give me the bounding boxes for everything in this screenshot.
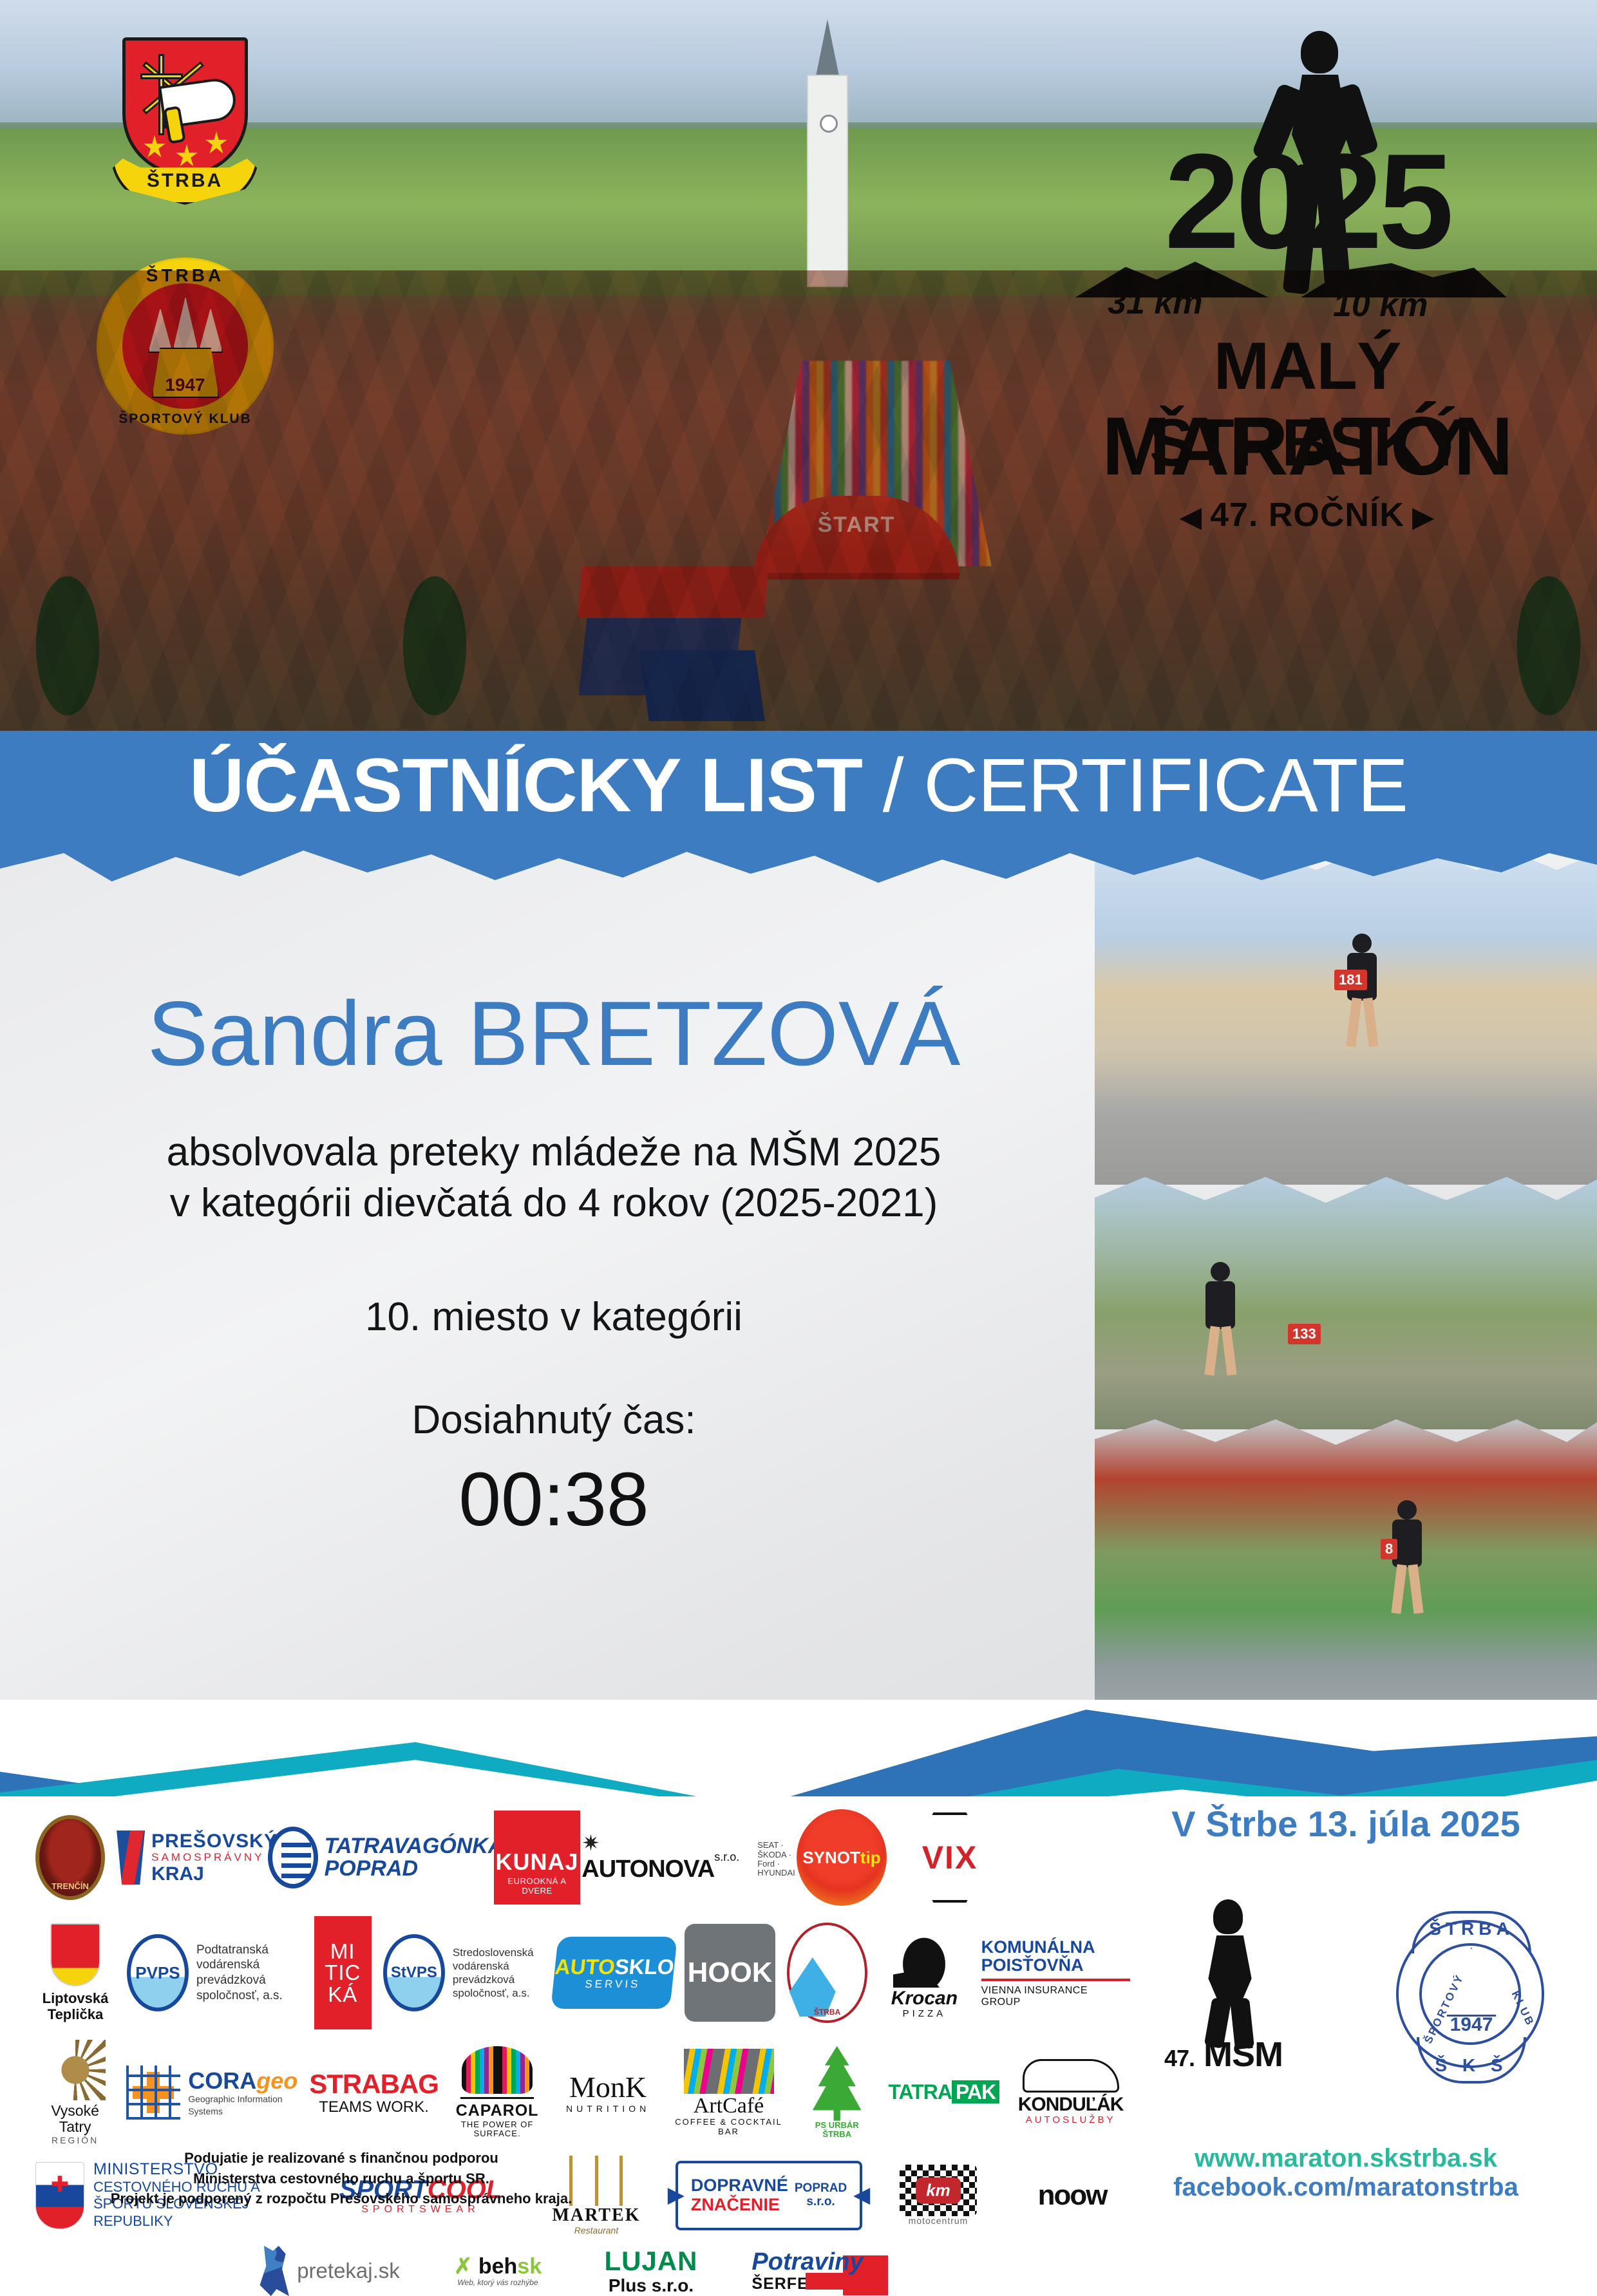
chevron-left-icon: ▶ bbox=[668, 2183, 685, 2207]
sponsor-miticka: MI TIC KÁ bbox=[314, 1916, 372, 2029]
race-bib-number: 181 bbox=[1334, 970, 1367, 990]
club-logo-bottom-text: ŠPORTOVÝ KLUB bbox=[97, 411, 274, 427]
marathon-event-logo: 2025 31 km 10 km MALÝ ŠTRBSKÝ MARATÓN 47… bbox=[1063, 26, 1552, 592]
tree-icon bbox=[809, 2046, 865, 2121]
sponsor-sublabel: EUROOKNÁ A DVERE bbox=[494, 1877, 580, 1896]
coat-of-arms-label: ŠTRBA bbox=[113, 170, 256, 192]
sponsor-hook: HOOK bbox=[685, 1924, 775, 2022]
title-separator: / bbox=[862, 743, 923, 828]
photo-finish-female-runner: 181 bbox=[1095, 850, 1597, 1185]
sponsor-label: CORA bbox=[188, 2067, 256, 2094]
sponsor-sublabel: THE POWER OF SURFACE. bbox=[450, 2120, 544, 2139]
sponsor-accent: PAK bbox=[952, 2080, 999, 2103]
sponsor-caparol: CAPAROL THE POWER OF SURFACE. bbox=[450, 2046, 544, 2138]
stamp-top-arc: ŠTRBA bbox=[1412, 1911, 1531, 1953]
sponsor-accent: SKLO bbox=[614, 1955, 676, 1979]
sponsor-corageo: CORAgeo Geographic Information Systems bbox=[126, 2065, 298, 2120]
sponsor-artcafe: ArtCafé COFFEE & COCKTAIL BAR bbox=[672, 2049, 786, 2136]
sponsor-row: Liptovská Teplička PVPS Podtatranská vod… bbox=[35, 1916, 1130, 2029]
funding-disclaimer: Podujatie je realizované s finančnou pod… bbox=[52, 2148, 631, 2208]
msm-abbr: MŠM bbox=[1204, 2035, 1283, 2074]
sponsor-accent: tip bbox=[860, 1849, 881, 1867]
msm-edition-logo: 47. MŠM bbox=[1133, 1899, 1314, 2093]
hero-photo-banner: ŠTART ŠTRBA ŠTRBA 1947 ŠPORTOVÝ KLUB bbox=[0, 0, 1597, 731]
sponsor-label: pretekaj.sk bbox=[297, 2259, 400, 2282]
photo-finish-male-runner: 8 bbox=[1095, 1416, 1597, 1700]
sponsor-label: TRENČÍN bbox=[52, 1882, 89, 1891]
distance-short: 10 km bbox=[1333, 286, 1428, 325]
disclaimer-line-3: Projekt je podporený z rozpočtu Prešovsk… bbox=[52, 2188, 631, 2208]
distance-long: 31 km bbox=[1108, 283, 1202, 322]
sponsor-label: KUNAJ bbox=[495, 1849, 578, 1875]
race-bib-number: 8 bbox=[1381, 1539, 1397, 1559]
sponsor-label: VIX bbox=[922, 1840, 978, 1876]
sponsor-label: MI TIC KÁ bbox=[314, 1941, 372, 2006]
marathon-edition: 47. ROČNÍK bbox=[1063, 496, 1552, 534]
grid-icon bbox=[126, 2065, 180, 2120]
sponsor-kondulak: KONDUĽÁK AUTOSLUŽBY bbox=[1011, 2059, 1130, 2126]
sponsor-row: Vysoké Tatry REGIÓN CORAgeo Geographic I… bbox=[35, 2040, 1130, 2145]
sponsor-label: Vysoké Tatry bbox=[35, 2103, 115, 2136]
time-value: 00:38 bbox=[77, 1462, 1030, 1538]
website-link[interactable]: www.maraton.skstrba.sk bbox=[1120, 2144, 1571, 2173]
sponsor-label-1: PREŠOVSKÝ bbox=[151, 1830, 278, 1852]
sks-official-stamp: ŠTRBA 1947 ŠPORTOVÝ KLUB Š K Š bbox=[1378, 1893, 1565, 2093]
sponsor-stvps: StVPS Stredoslovenská vodárenská prevádz… bbox=[383, 1934, 543, 2011]
sponsor-label-2: POISŤOVŇA bbox=[981, 1955, 1084, 1975]
runner-icon: ✗ bbox=[454, 2254, 473, 2279]
stamp-bottom-label: Š K Š bbox=[1435, 2055, 1507, 2076]
sponsor-label-3: POPRAD s.r.o. bbox=[795, 2182, 847, 2209]
sponsor-sublabel: Plus s.r.o. bbox=[604, 2276, 697, 2296]
sponsor-sublabel: NUTRITION bbox=[566, 2104, 650, 2114]
sponsor-tatrapak: TATRAPAK bbox=[888, 2081, 999, 2103]
sponsor-tatravagonka: TATRAVAGÓNKA POPRAD bbox=[289, 1827, 482, 1888]
sponsor-label: AUTO bbox=[554, 1955, 616, 1979]
sponsor-label: LUJAN bbox=[604, 2246, 697, 2276]
mountain-icon bbox=[1075, 260, 1269, 297]
sponsor-sublabel: SERVIS bbox=[584, 1979, 641, 1991]
sponsor-monk-nutrition: MonK NUTRITION bbox=[556, 2071, 660, 2114]
sponsor-label-1: Potraviny bbox=[751, 2249, 863, 2276]
runner-figure bbox=[1378, 1500, 1436, 1629]
sponsor-synottip: SYNOTtip bbox=[797, 1809, 887, 1906]
sponsor-sublabel: REGIÓN bbox=[35, 2136, 115, 2145]
sponsor-label-1: PS URBÁR bbox=[809, 2121, 865, 2130]
sponsor-sublabel: PIZZA bbox=[891, 2009, 958, 2020]
sponsor-noow: noow bbox=[1014, 2180, 1130, 2211]
issue-date: V Štrbe 13. júla 2025 bbox=[1120, 1803, 1571, 1845]
club-logo-top-text: ŠTRBA bbox=[97, 265, 274, 286]
sponsor-label-2: SAMOSPRÁVNY bbox=[151, 1851, 264, 1863]
strba-coat-of-arms: ŠTRBA bbox=[111, 31, 259, 224]
race-bib-number: 133 bbox=[1288, 1324, 1321, 1344]
start-banner-label: ŠTART bbox=[753, 513, 959, 538]
sponsor-lujan: LUJAN Plus s.r.o. bbox=[587, 2246, 715, 2296]
participant-name: Sandra BRETZOVÁ bbox=[77, 988, 1030, 1080]
sks-club-logo: ŠTRBA 1947 ŠPORTOVÝ KLUB bbox=[97, 258, 274, 435]
club-logo-year: 1947 bbox=[97, 375, 274, 395]
sponsor-beh-sk: ✗ behsk Web, ktorý vás rozhýbe bbox=[421, 2255, 575, 2288]
tatravagonka-icon bbox=[268, 1827, 318, 1888]
title-slovak: ÚČASTNÍCKY LIST bbox=[189, 743, 862, 828]
time-label: Dosiahnutý čas: bbox=[77, 1397, 1030, 1443]
page-title: ÚČASTNÍCKY LIST / CERTIFICATE bbox=[0, 748, 1597, 823]
sponsor-ps-urbar-strba: PS URBÁR ŠTRBA bbox=[797, 2046, 876, 2140]
turkey-icon bbox=[893, 1926, 955, 1988]
tree bbox=[19, 518, 116, 731]
sponsor-label: km bbox=[916, 2178, 961, 2204]
stamp-year: 1947 bbox=[1378, 2014, 1565, 2036]
sponsor-sublabel: motocentrum bbox=[900, 2216, 977, 2226]
sponsor-label: Liptovská Teplička bbox=[35, 1990, 115, 2023]
sponsor-label: MARTEK bbox=[552, 2206, 640, 2226]
photo-runners-hillside: 133 bbox=[1095, 1172, 1597, 1429]
sponsor-label: CAPAROL bbox=[450, 2102, 544, 2120]
marathon-title-line2: MARATÓN bbox=[1063, 399, 1552, 494]
sponsor-sublabel: AUTOSLUŽBY bbox=[1018, 2115, 1124, 2126]
sponsor-autonova: ✷ AUTONOVA s.r.o. SEAT · ŠKODA · Ford · … bbox=[592, 1832, 785, 1883]
sponsor-row: TRENČÍN PREŠOVSKÝ SAMOSPRÁVNY KRAJ TATRA… bbox=[35, 1809, 1130, 1906]
tree bbox=[1500, 518, 1597, 731]
pvps-icon: PVPS bbox=[127, 1934, 189, 2011]
sponsor-sublabel: Geographic Information Systems bbox=[188, 2094, 282, 2116]
sponsor-program-trencin: TRENČÍN bbox=[35, 1815, 105, 1900]
mountain-icon bbox=[1301, 260, 1507, 297]
chamois-icon bbox=[45, 2040, 106, 2100]
sponsor-sublabel: COFFEE & COCKTAIL BAR bbox=[672, 2118, 786, 2136]
sponsor-accent: sk bbox=[517, 2254, 542, 2279]
burst-icon: ✷ bbox=[581, 1831, 600, 1856]
sponsor-label: MonK bbox=[566, 2071, 650, 2104]
description-line-2: v kategórii dievčatá do 4 rokov (2025-20… bbox=[77, 1178, 1030, 1228]
sponsor-pd-strba: ŠTRBA bbox=[787, 1923, 867, 2023]
sponsor-label-1: KOMUNÁLNA bbox=[981, 1937, 1095, 1957]
sponsor-pvps: PVPS Podtatranská vodárenská prevádzková… bbox=[127, 1934, 303, 2011]
runner-figure bbox=[1333, 934, 1391, 1056]
sponsor-komunalna-poistovna: KOMUNÁLNA POISŤOVŇA VIENNA INSURANCE GRO… bbox=[981, 1938, 1130, 2008]
facebook-link[interactable]: facebook.com/maratonstrba bbox=[1120, 2173, 1571, 2202]
sponsor-km-motocentrum: km motocentrum bbox=[874, 2165, 1003, 2226]
region-flag-icon bbox=[117, 1830, 145, 1885]
sponsor-sublabel: Web, ktorý vás rozhýbe bbox=[454, 2279, 542, 2287]
marathon-title-line1: MALÝ ŠTRBSKÝ bbox=[1063, 328, 1552, 482]
sponsor-label-1: TATRAVAGÓNKA bbox=[325, 1834, 504, 1858]
description-line-1: absolvovala preteky mládeže na MŠM 2025 bbox=[77, 1127, 1030, 1178]
sponsor-label-1: DOPRAVNÉ bbox=[691, 2176, 788, 2195]
msm-edition-number: 47. bbox=[1164, 2045, 1195, 2071]
contact-links: www.maraton.skstrba.sk facebook.com/mara… bbox=[1120, 2144, 1571, 2202]
runners-icon bbox=[257, 2246, 292, 2296]
sponsor-label: STRABAG bbox=[309, 2069, 439, 2099]
dots-icon bbox=[806, 2273, 851, 2290]
sponsor-brands: SEAT · ŠKODA · Ford · HYUNDAI bbox=[757, 1841, 795, 1877]
sponsor-label-2: ZNAČENIE bbox=[691, 2195, 780, 2214]
stvps-icon: StVPS bbox=[383, 1934, 445, 2011]
chevron-right-icon: ◀ bbox=[853, 2183, 870, 2207]
sponsor-sublabel: TEAMS WORK. bbox=[309, 2099, 439, 2116]
sponsor-label: HOOK bbox=[688, 1957, 773, 1988]
sponsor-sublabel: ŠTRBA bbox=[789, 2008, 865, 2017]
marathon-year: 2025 bbox=[1063, 140, 1552, 262]
start-arch: ŠTART bbox=[753, 496, 959, 579]
sponsor-accent: geo bbox=[256, 2067, 298, 2094]
sponsor-sublabel: VIENNA INSURANCE GROUP bbox=[981, 1985, 1130, 2008]
title-english: CERTIFICATE bbox=[923, 743, 1408, 828]
tree bbox=[386, 518, 483, 731]
sponsor-strabag: STRABAG TEAMS WORK. bbox=[309, 2069, 439, 2116]
sponsor-label-3: KRAJ bbox=[151, 1863, 204, 1885]
sponsor-presovsky-kraj: PREŠOVSKÝ SAMOSPRÁVNY KRAJ bbox=[117, 1830, 278, 1885]
red-tent bbox=[578, 567, 769, 618]
sponsor-krocan-pizza: Krocan PIZZA bbox=[879, 1926, 969, 2020]
sponsor-grid: TRENČÍN PREŠOVSKÝ SAMOSPRÁVNY KRAJ TATRA… bbox=[35, 1809, 1130, 2189]
certificate-description: absolvovala preteky mládeže na MŠM 2025 … bbox=[77, 1127, 1030, 1229]
sponsor-dopravne-znacenie: ▶ DOPRAVNÉ ZNAČENIE POPRAD s.r.o. ◀ bbox=[676, 2161, 862, 2230]
disclaimer-line-1: Podujatie je realizované s finančnou pod… bbox=[52, 2148, 631, 2168]
sponsor-label: beh bbox=[478, 2254, 517, 2279]
runner-figure bbox=[1191, 1262, 1249, 1384]
sponsor-label: Krocan bbox=[891, 1988, 958, 2009]
runner-silhouette-icon bbox=[1191, 1899, 1269, 2047]
disclaimer-line-2: Ministerstva cestovného ruchu a športu S… bbox=[52, 2169, 631, 2188]
footer-right-column: V Štrbe 13. júla 2025 47. MŠM ŠTRBA 1947… bbox=[1120, 1796, 1571, 2259]
elephant-icon bbox=[462, 2046, 533, 2094]
sponsor-pretekaj-sk: pretekaj.sk bbox=[248, 2246, 409, 2296]
placement-text: 10. miesto v kategórii bbox=[77, 1294, 1030, 1340]
sponsor-sublabel: s.r.o. bbox=[714, 1851, 757, 1864]
sponsor-label: ArtCafé bbox=[672, 2094, 786, 2118]
sponsor-autosklo-servis: AUTOSKLO SERVIS bbox=[551, 1937, 677, 2009]
sponsor-label-2: ŠTRBA bbox=[809, 2130, 865, 2139]
sponsor-label: AUTONOVA bbox=[581, 1856, 714, 1883]
stamp-bottom-arc: Š K Š bbox=[1417, 2037, 1526, 2084]
race-crowd bbox=[760, 361, 992, 567]
checkered-flag-icon: km bbox=[900, 2165, 977, 2216]
blue-tent bbox=[579, 618, 742, 695]
sponsor-label: KONDUĽÁK bbox=[1018, 2094, 1124, 2115]
stamp-top-label: ŠTRBA bbox=[1429, 1919, 1513, 1939]
sponsor-footer: TRENČÍN PREŠOVSKÝ SAMOSPRÁVNY KRAJ TATRA… bbox=[0, 1796, 1597, 2259]
village-crest-icon bbox=[50, 1923, 100, 1986]
sponsor-liptovska-teplicka: Liptovská Teplička bbox=[35, 1923, 115, 2023]
sponsor-vix: VIX bbox=[898, 1812, 1001, 1903]
church-tower bbox=[789, 19, 866, 296]
sponsor-row: pretekaj.sk ✗ behsk Web, ktorý vás rozhý… bbox=[248, 2246, 1130, 2296]
car-icon bbox=[1023, 2059, 1119, 2093]
clock-icon bbox=[820, 115, 838, 133]
sponsor-label: SYNOT bbox=[802, 1849, 860, 1867]
sponsor-potraviny-serfel: Potraviny ŠERFEL bbox=[727, 2249, 888, 2293]
sponsor-description: Stredoslovenská vodárenská prevádzková s… bbox=[453, 1946, 543, 2000]
sponsor-description: Podtatranská vodárenská prevádzková spol… bbox=[196, 1943, 303, 2004]
photo-collage: 181 133 8 bbox=[1095, 850, 1597, 1700]
sponsor-label: TATRA bbox=[888, 2080, 952, 2103]
sponsor-label-2: POPRAD bbox=[325, 1856, 418, 1881]
sponsor-label: noow bbox=[1038, 2180, 1107, 2211]
coffee-cup-icon bbox=[684, 2049, 774, 2094]
sponsor-kunaj: KUNAJ EUROOKNÁ A DVERE bbox=[494, 1811, 580, 1905]
sponsor-vysoke-tatry: Vysoké Tatry REGIÓN bbox=[35, 2040, 115, 2145]
blue-tent-2 bbox=[639, 650, 764, 721]
sponsor-sublabel: Restaurant bbox=[552, 2226, 640, 2235]
